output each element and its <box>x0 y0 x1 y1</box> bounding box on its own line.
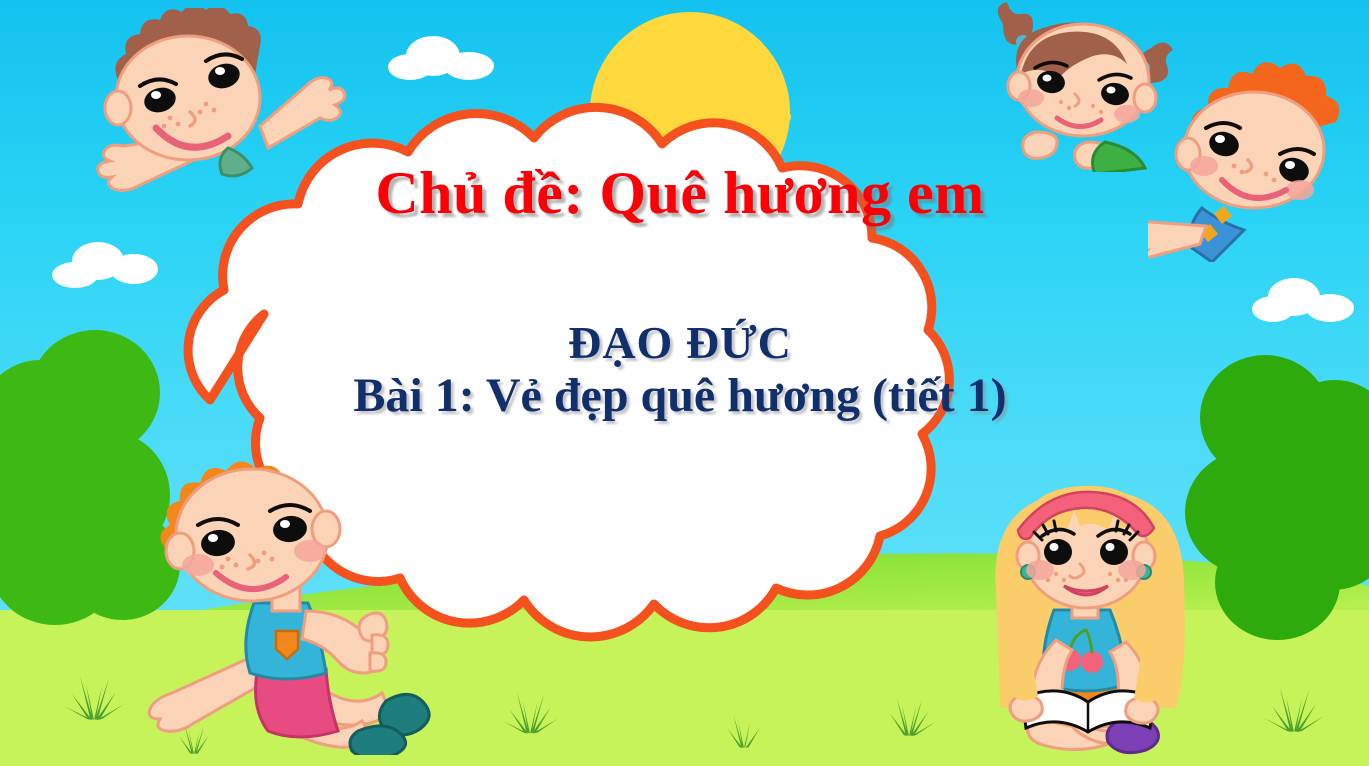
child-boy-orange-hair-bottom-left <box>140 455 460 755</box>
cloud-top-left-icon <box>388 36 498 82</box>
grass-tuft-1-icon <box>62 672 126 720</box>
lesson-title-slide: Chủ đề: Quê hương em ĐẠO ĐỨC Bài 1: Vẻ đ… <box>0 0 1369 766</box>
grass-tuft-6-icon <box>1262 684 1326 732</box>
child-girl-blonde-bottom-right <box>960 470 1220 760</box>
cloud-right-icon <box>1252 278 1357 324</box>
